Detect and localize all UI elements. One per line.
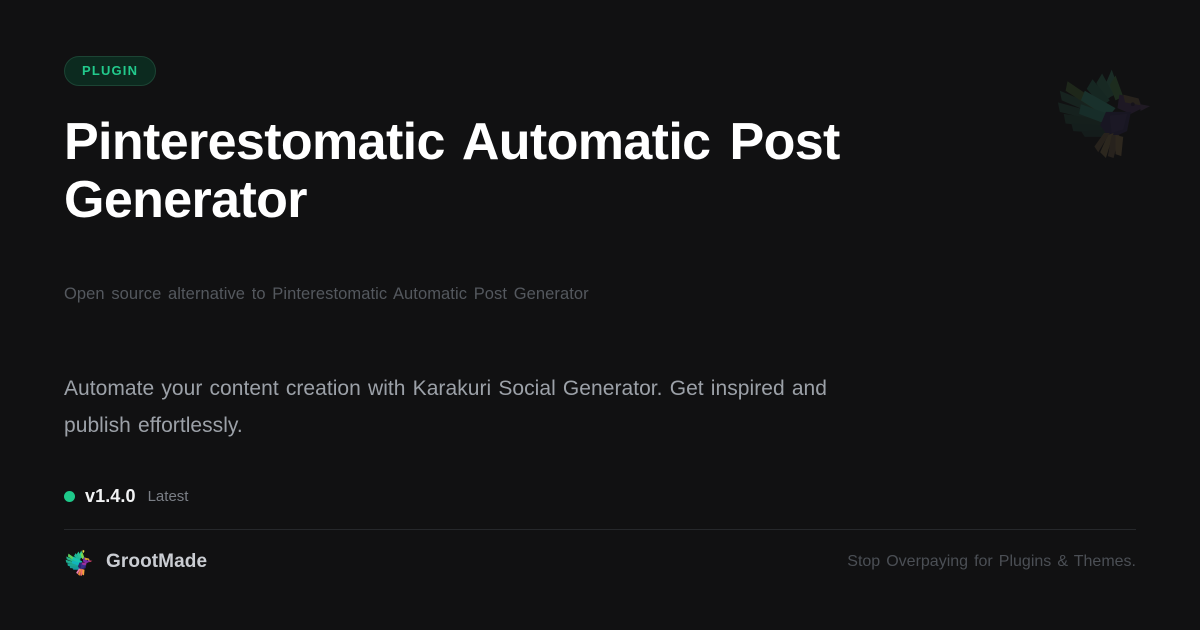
version-tag: Latest <box>148 488 189 505</box>
status-dot-icon <box>64 491 75 502</box>
brand-name: GrootMade <box>106 551 207 573</box>
divider <box>64 529 1136 530</box>
grootmade-bird-watermark-icon <box>1056 58 1152 162</box>
page-title: Pinterestomatic Automatic Post Generator <box>64 113 914 229</box>
share-card: PLUGIN Pinterestomatic Automatic Post Ge… <box>0 0 1200 630</box>
page-description: Automate your content creation with Kara… <box>64 370 854 444</box>
page-subtitle: Open source alternative to Pinterestomat… <box>64 283 589 305</box>
badge-row: PLUGIN <box>64 56 156 86</box>
status-badge: PLUGIN <box>64 56 156 86</box>
version-row: v1.4.0 Latest <box>64 486 188 507</box>
grootmade-bird-logo-icon <box>64 547 94 577</box>
version-number: v1.4.0 <box>85 486 136 507</box>
footer-tagline: Stop Overpaying for Plugins & Themes. <box>847 553 1136 571</box>
brand: GrootMade <box>64 547 207 577</box>
footer: GrootMade Stop Overpaying for Plugins & … <box>64 545 1136 579</box>
